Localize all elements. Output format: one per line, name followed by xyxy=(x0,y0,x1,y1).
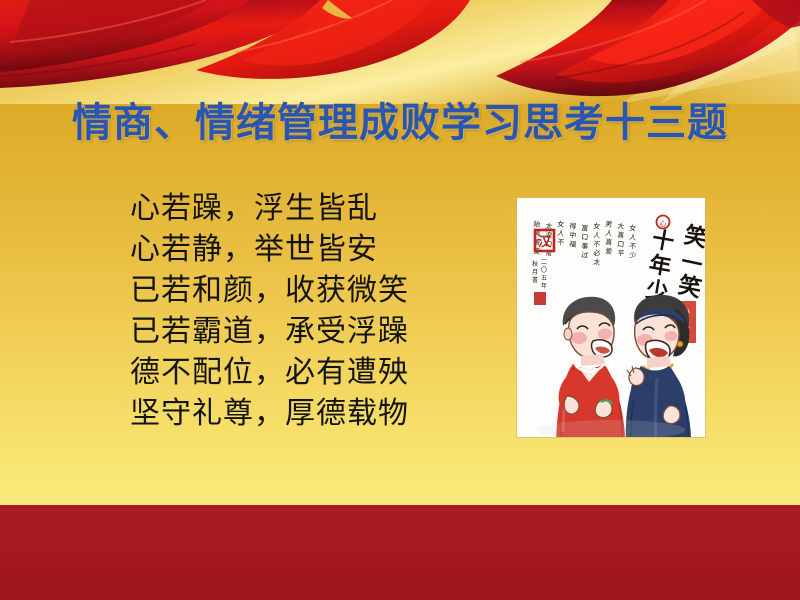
svg-text:喜: 喜 xyxy=(617,230,625,240)
poem-block: 心若躁，浮生皆乱 心若静，举世皆安 已若和颜，收获微笑 已若霸道，承受浮躁 德不… xyxy=(130,188,500,434)
poem-line: 已若霸道，承受浮躁 xyxy=(130,311,500,352)
slide-title: 情商、情绪管理成败学习思考十三题 xyxy=(0,100,800,146)
svg-text:書: 書 xyxy=(532,276,538,284)
poem-line: 心若躁，浮生皆乱 xyxy=(130,188,500,229)
signature-seal xyxy=(534,292,546,305)
poem-line: 德不配位，必有遭殃 xyxy=(130,352,500,393)
svg-text:女: 女 xyxy=(593,221,601,231)
bottom-red-band xyxy=(0,505,800,600)
svg-text:心: 心 xyxy=(660,220,667,228)
svg-text:女: 女 xyxy=(557,219,565,229)
ink-painting-two-laughing-women: 笑 一 笑 十 年 少 女 人 不 少 大 喜 口 平 男 人 喜 爱 xyxy=(517,198,705,437)
svg-text:不: 不 xyxy=(593,240,601,249)
svg-text:月: 月 xyxy=(532,269,538,276)
svg-text:五: 五 xyxy=(541,275,547,282)
svg-text:喜: 喜 xyxy=(605,237,613,247)
slide-canvas: 情商、情绪管理成败学习思考十三题 心若躁，浮生皆乱 心若静，举世皆安 已若和颜，… xyxy=(0,0,800,600)
svg-text:人: 人 xyxy=(605,229,613,238)
svg-text:二: 二 xyxy=(541,259,547,266)
svg-text:事: 事 xyxy=(581,241,589,251)
svg-text:人: 人 xyxy=(629,233,637,242)
illustration-frame: 笑 一 笑 十 年 少 女 人 不 少 大 喜 口 平 男 人 喜 爱 xyxy=(517,198,705,437)
svg-text:平: 平 xyxy=(617,249,625,258)
poem-line: 坚守礼尊，厚德载物 xyxy=(130,393,500,434)
svg-text:太: 太 xyxy=(593,257,601,267)
svg-text:富: 富 xyxy=(581,223,589,233)
drapery-graphic xyxy=(0,0,800,104)
svg-text:〇: 〇 xyxy=(541,267,547,274)
poem-line: 心若静，举世皆安 xyxy=(130,229,500,270)
svg-text:得: 得 xyxy=(569,221,577,231)
svg-text:始: 始 xyxy=(533,219,541,229)
svg-text:福: 福 xyxy=(569,239,577,249)
svg-text:不: 不 xyxy=(557,238,565,247)
svg-text:不: 不 xyxy=(629,242,637,251)
poem-line: 已若和颜，收获微笑 xyxy=(130,270,500,311)
svg-text:人: 人 xyxy=(593,231,601,240)
svg-text:少: 少 xyxy=(629,251,637,260)
svg-text:秋: 秋 xyxy=(532,260,538,268)
svg-text:男: 男 xyxy=(605,220,613,229)
red-silk-drapery-banner xyxy=(0,0,800,104)
svg-text:汉: 汉 xyxy=(538,234,552,250)
svg-text:大: 大 xyxy=(617,221,625,231)
svg-text:口: 口 xyxy=(617,240,625,249)
svg-text:人: 人 xyxy=(557,229,565,238)
svg-text:爱: 爱 xyxy=(605,247,613,256)
svg-text:中: 中 xyxy=(569,230,577,240)
svg-text:女: 女 xyxy=(629,223,637,233)
svg-text:必: 必 xyxy=(593,248,601,258)
svg-text:年: 年 xyxy=(541,282,547,290)
svg-text:口: 口 xyxy=(581,233,589,242)
svg-text:过: 过 xyxy=(581,250,589,260)
